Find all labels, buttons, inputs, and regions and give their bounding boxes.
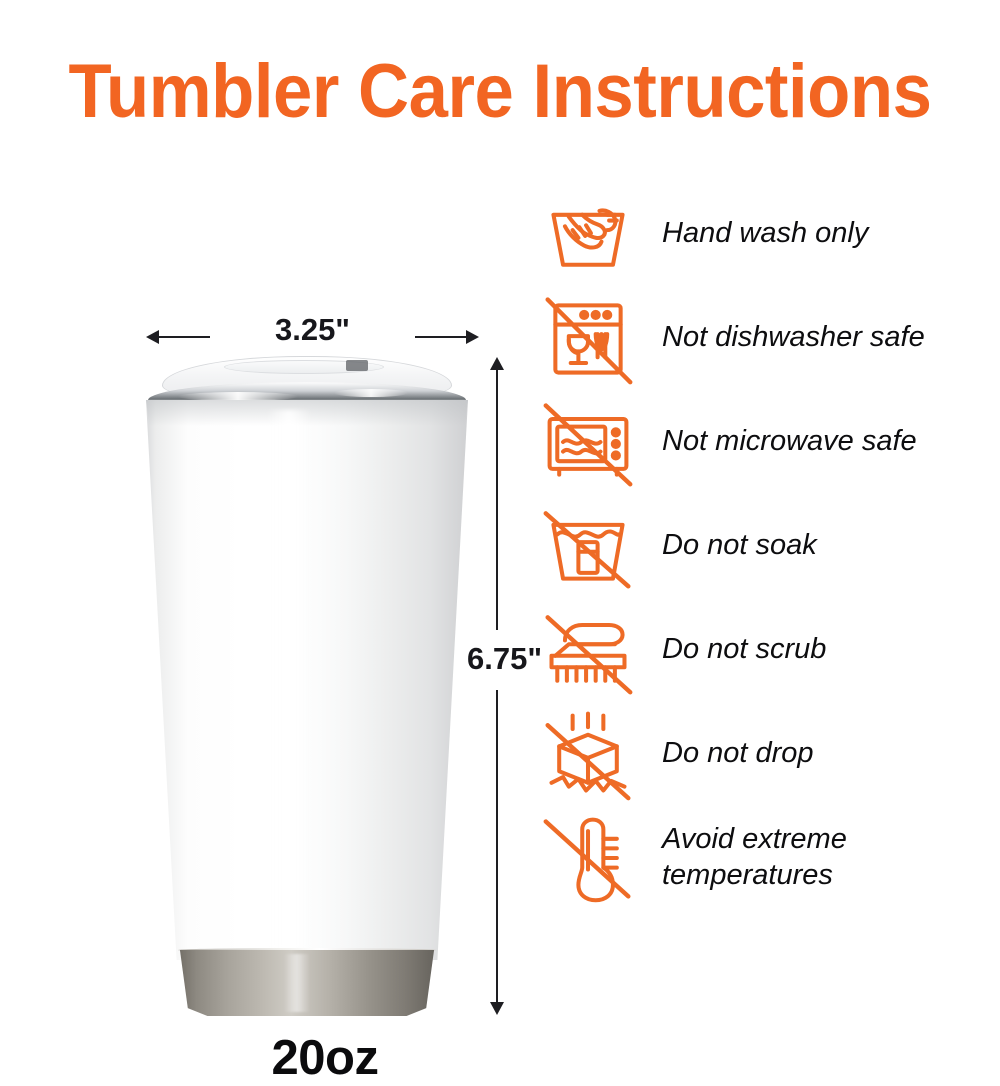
falling-box-icon (540, 706, 636, 802)
care-row-hand-wash: Hand wash only (528, 186, 988, 290)
care-label-temperature: Avoid extreme temperatures (662, 810, 982, 906)
care-row-drop: Do not drop (528, 706, 988, 810)
rim-highlight-right (334, 389, 408, 397)
care-row-temperature: Avoid extreme temperatures (528, 810, 988, 922)
capacity-label: 20oz (190, 1030, 460, 1086)
care-row-soak: Do not soak (528, 498, 988, 602)
care-row-dishwasher: Not dishwasher safe (528, 290, 988, 394)
scrub-brush-icon (540, 602, 636, 698)
rim-highlight-left (178, 392, 298, 401)
width-dimension-label: 3.25" (210, 312, 415, 348)
care-instructions-infographic: Tumbler Care Instructions 3.25" 6.75" (0, 0, 1000, 1000)
microwave-icon (540, 394, 636, 490)
care-label-dishwasher: Not dishwasher safe (662, 290, 982, 386)
thermometer-icon (540, 810, 636, 906)
hand-wash-icon (540, 186, 636, 282)
height-dimension-line-bottom (496, 690, 498, 1005)
care-instruction-list: Hand wash only Not dishwasher safe (528, 186, 988, 922)
dishwasher-icon (540, 290, 636, 386)
care-label-scrub: Do not scrub (662, 602, 982, 698)
care-label-soak: Do not soak (662, 498, 982, 594)
care-label-hand-wash: Hand wash only (662, 186, 982, 282)
care-row-scrub: Do not scrub (528, 602, 988, 706)
base-highlight (284, 954, 310, 1012)
lid-slider-tab (346, 360, 368, 371)
tumbler-image (138, 348, 478, 1023)
soak-basin-icon (540, 498, 636, 594)
care-label-drop: Do not drop (662, 706, 982, 802)
width-arrow-right-head (466, 330, 479, 344)
care-label-temperature-line2: temperatures (662, 859, 833, 891)
care-label-microwave: Not microwave safe (662, 394, 982, 490)
height-dimension-line-top (496, 368, 498, 630)
care-label-temperature-line1: Avoid extreme (662, 823, 847, 855)
product-illustration-area: 3.25" 6.75" 20oz (60, 150, 480, 950)
page-title: Tumbler Care Instructions (35, 52, 965, 132)
body-highlight (266, 410, 312, 950)
height-arrow-bottom-head (490, 1002, 504, 1015)
care-row-microwave: Not microwave safe (528, 394, 988, 498)
